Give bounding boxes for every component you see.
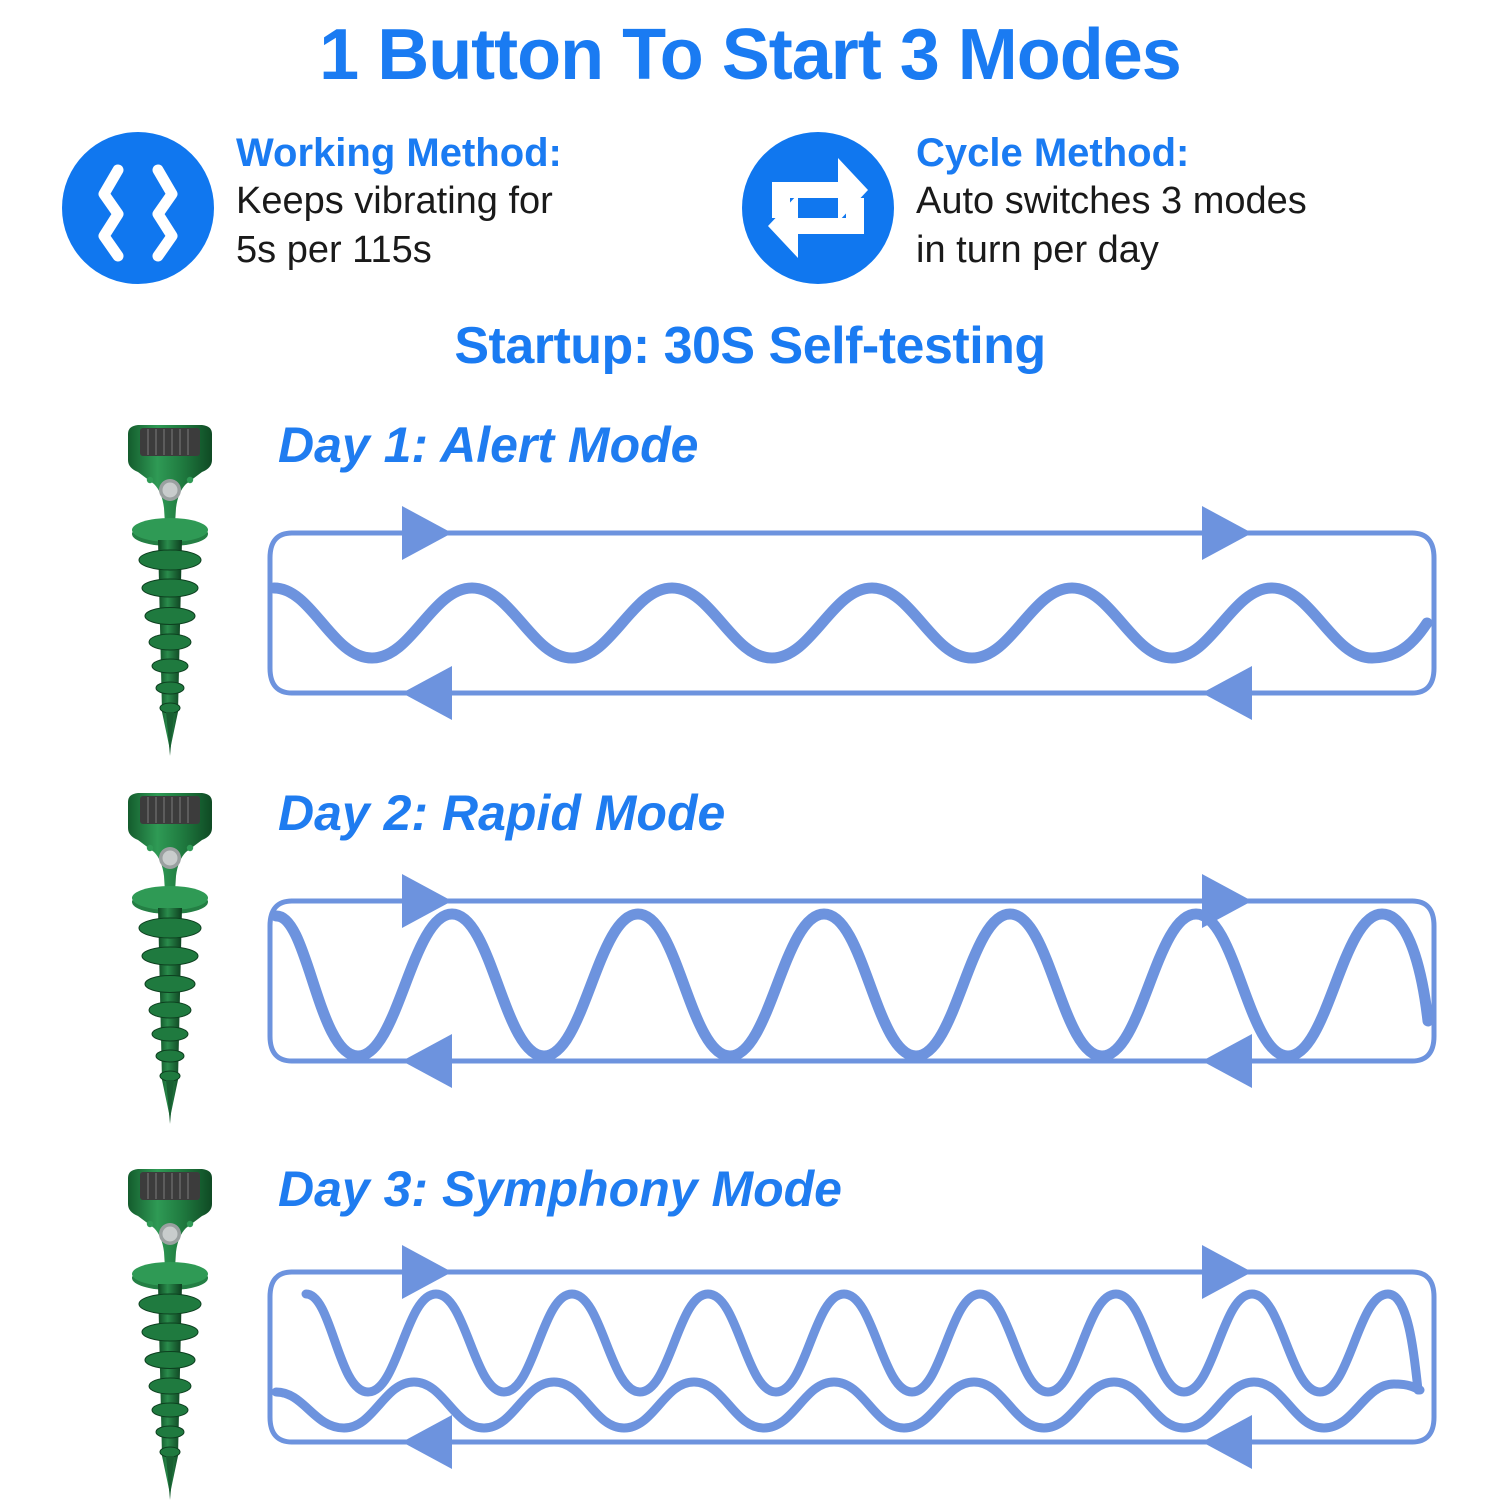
product-image-day-2 [70,780,270,1128]
feature-title: Working Method: [236,130,562,177]
mode-label-day-1: Day 1: Alert Mode [278,416,698,474]
product-image-day-3 [70,1156,270,1504]
vibration-icon [62,132,214,284]
cycle-repeat-icon [742,132,894,284]
feature-working-method: Working Method: Keeps vibrating for 5s p… [62,128,752,284]
mode-label-day-2: Day 2: Rapid Mode [278,784,725,842]
waveform-diagram-day-2 [262,856,1442,1106]
mode-label-day-3: Day 3: Symphony Mode [278,1160,842,1218]
sine-wave-rapid [276,914,1428,1056]
feature-cycle-method: Cycle Method: Auto switches 3 modes in t… [742,128,1442,284]
feature-desc-line-2: 5s per 115s [236,226,562,275]
waveform-diagram-day-1 [262,488,1442,738]
sine-wave-alert [274,588,1427,658]
feature-text: Cycle Method: Auto switches 3 modes in t… [916,128,1307,274]
page-title: 1 Button To Start 3 Modes [0,18,1500,94]
product-image-day-1 [70,412,270,760]
feature-desc-line-1: Keeps vibrating for [236,177,562,226]
mode-block-day-1: Day 1: Alert Mode [0,404,1500,760]
waveform-diagram-day-3 [262,1232,1442,1482]
sine-wave-symphony-high [306,1294,1418,1392]
feature-row: Working Method: Keeps vibrating for 5s p… [0,128,1500,308]
mode-block-day-3: Day 3: Symphony Mode [0,1148,1500,1504]
feature-desc-line-2: in turn per day [916,226,1307,275]
mode-block-day-2: Day 2: Rapid Mode [0,772,1500,1128]
feature-text: Working Method: Keeps vibrating for 5s p… [236,128,562,274]
startup-self-testing-label: Startup: 30S Self-testing [0,316,1500,376]
feature-desc-line-1: Auto switches 3 modes [916,177,1307,226]
feature-title: Cycle Method: [916,130,1307,177]
